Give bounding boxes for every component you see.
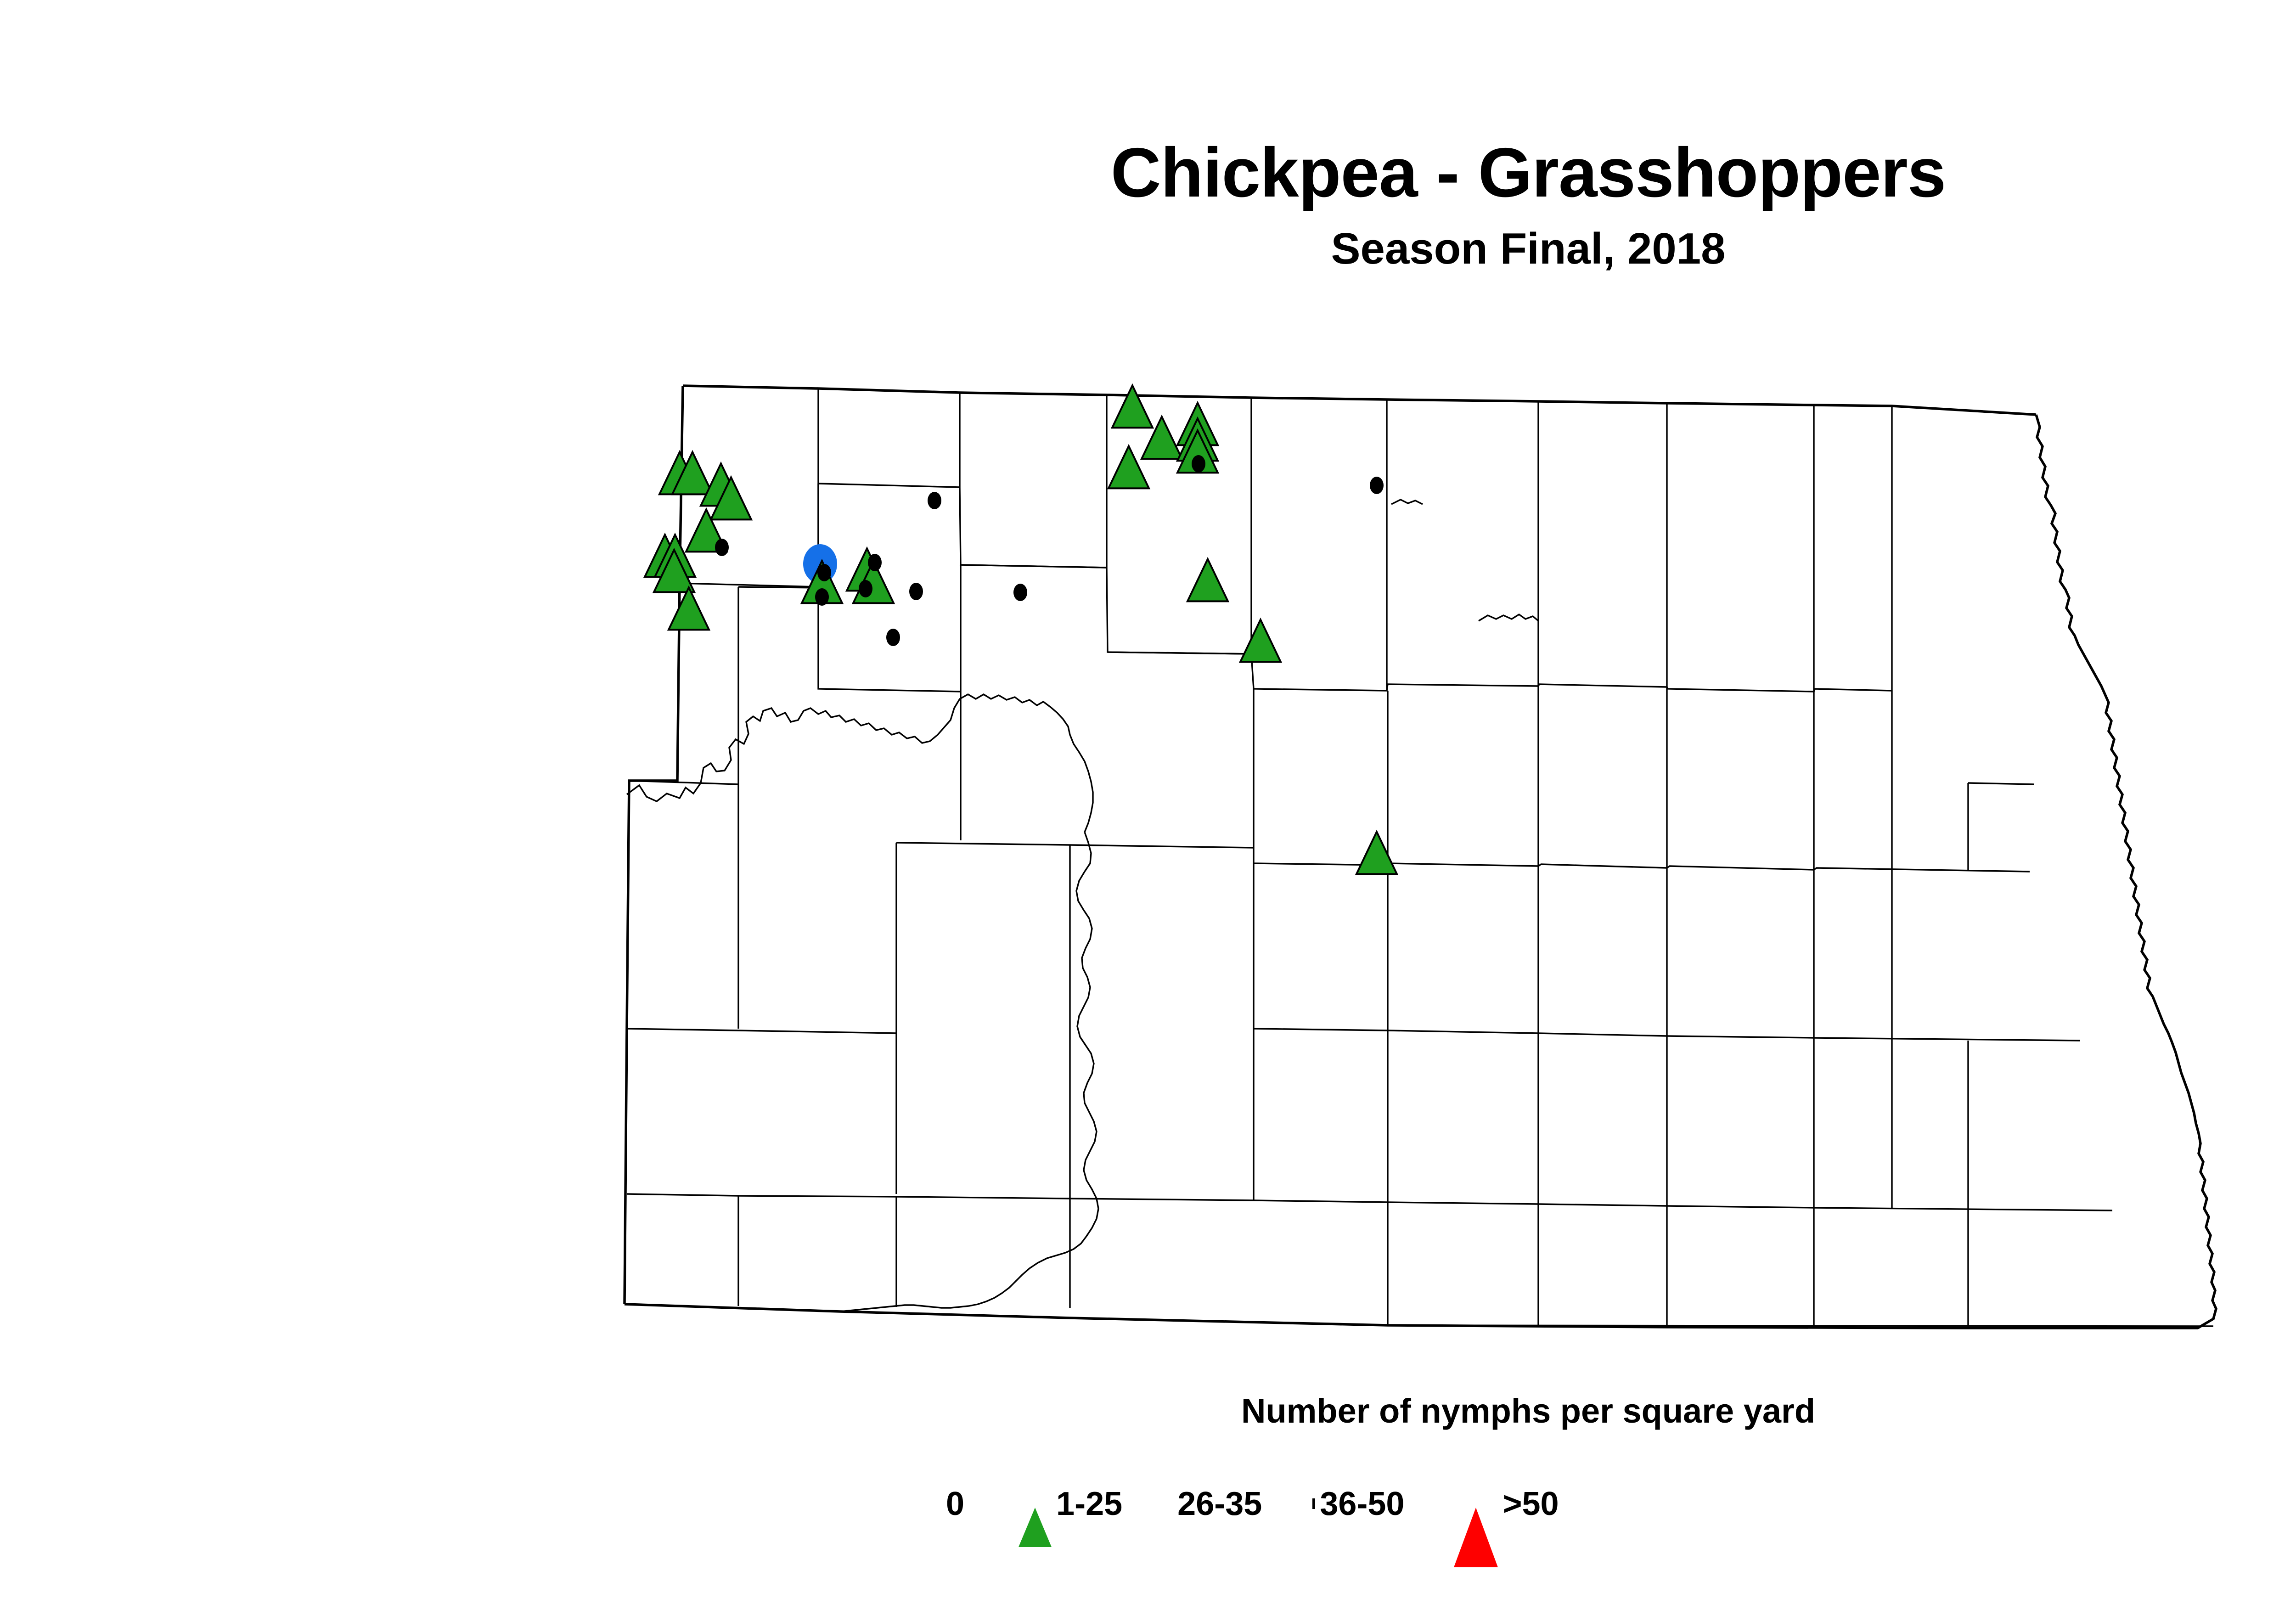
title-block: Chickpea - Grasshoppers Season Final, 20… xyxy=(0,138,2296,271)
map-page: Chickpea - Grasshoppers Season Final, 20… xyxy=(0,0,2296,1610)
square-icon xyxy=(1312,1500,1315,1508)
legend-item-2[interactable]: 26-35 xyxy=(1173,1465,1262,1543)
map-marker-black-dot[interactable] xyxy=(1192,455,1205,473)
legend-label-3: 36-50 xyxy=(1315,1487,1404,1520)
map-svg xyxy=(611,367,2227,1350)
legend-label-0: 0 xyxy=(941,1487,964,1520)
legend-label-1: 1-25 xyxy=(1052,1487,1122,1520)
triangle-large-icon xyxy=(1454,1500,1498,1508)
map-marker-black-dot[interactable] xyxy=(928,492,941,509)
map-marker-black-dot[interactable] xyxy=(868,554,882,571)
legend-item-3[interactable]: 36-50 xyxy=(1312,1465,1404,1543)
map-marker-black-dot[interactable] xyxy=(909,583,923,600)
map-marker-black-dot[interactable] xyxy=(1013,584,1027,601)
map-marker-black-dot[interactable] xyxy=(859,580,872,597)
north-dakota-map xyxy=(611,367,2227,1350)
legend-label-2: 26-35 xyxy=(1173,1487,1262,1520)
legend-title: Number of nymphs per square yard xyxy=(0,1391,2296,1430)
map-marker-black-dot[interactable] xyxy=(815,588,829,606)
triangle-icon xyxy=(1019,1500,1052,1508)
legend: 0 1-25 26-35 36-50 >50 xyxy=(941,1465,1906,1543)
legend-item-4[interactable]: >50 xyxy=(1454,1465,1559,1543)
legend-label-4: >50 xyxy=(1498,1487,1559,1520)
map-marker-black-dot[interactable] xyxy=(817,564,831,581)
page-subtitle: Season Final, 2018 xyxy=(0,208,2296,271)
state-fill xyxy=(625,386,2214,1328)
legend-item-0[interactable]: 0 xyxy=(941,1465,964,1543)
map-marker-black-dot[interactable] xyxy=(1370,477,1384,494)
page-title: Chickpea - Grasshoppers xyxy=(0,138,2296,208)
legend-item-1[interactable]: 1-25 xyxy=(1019,1465,1122,1543)
map-marker-black-dot[interactable] xyxy=(886,629,900,646)
map-marker-black-dot[interactable] xyxy=(715,539,729,556)
